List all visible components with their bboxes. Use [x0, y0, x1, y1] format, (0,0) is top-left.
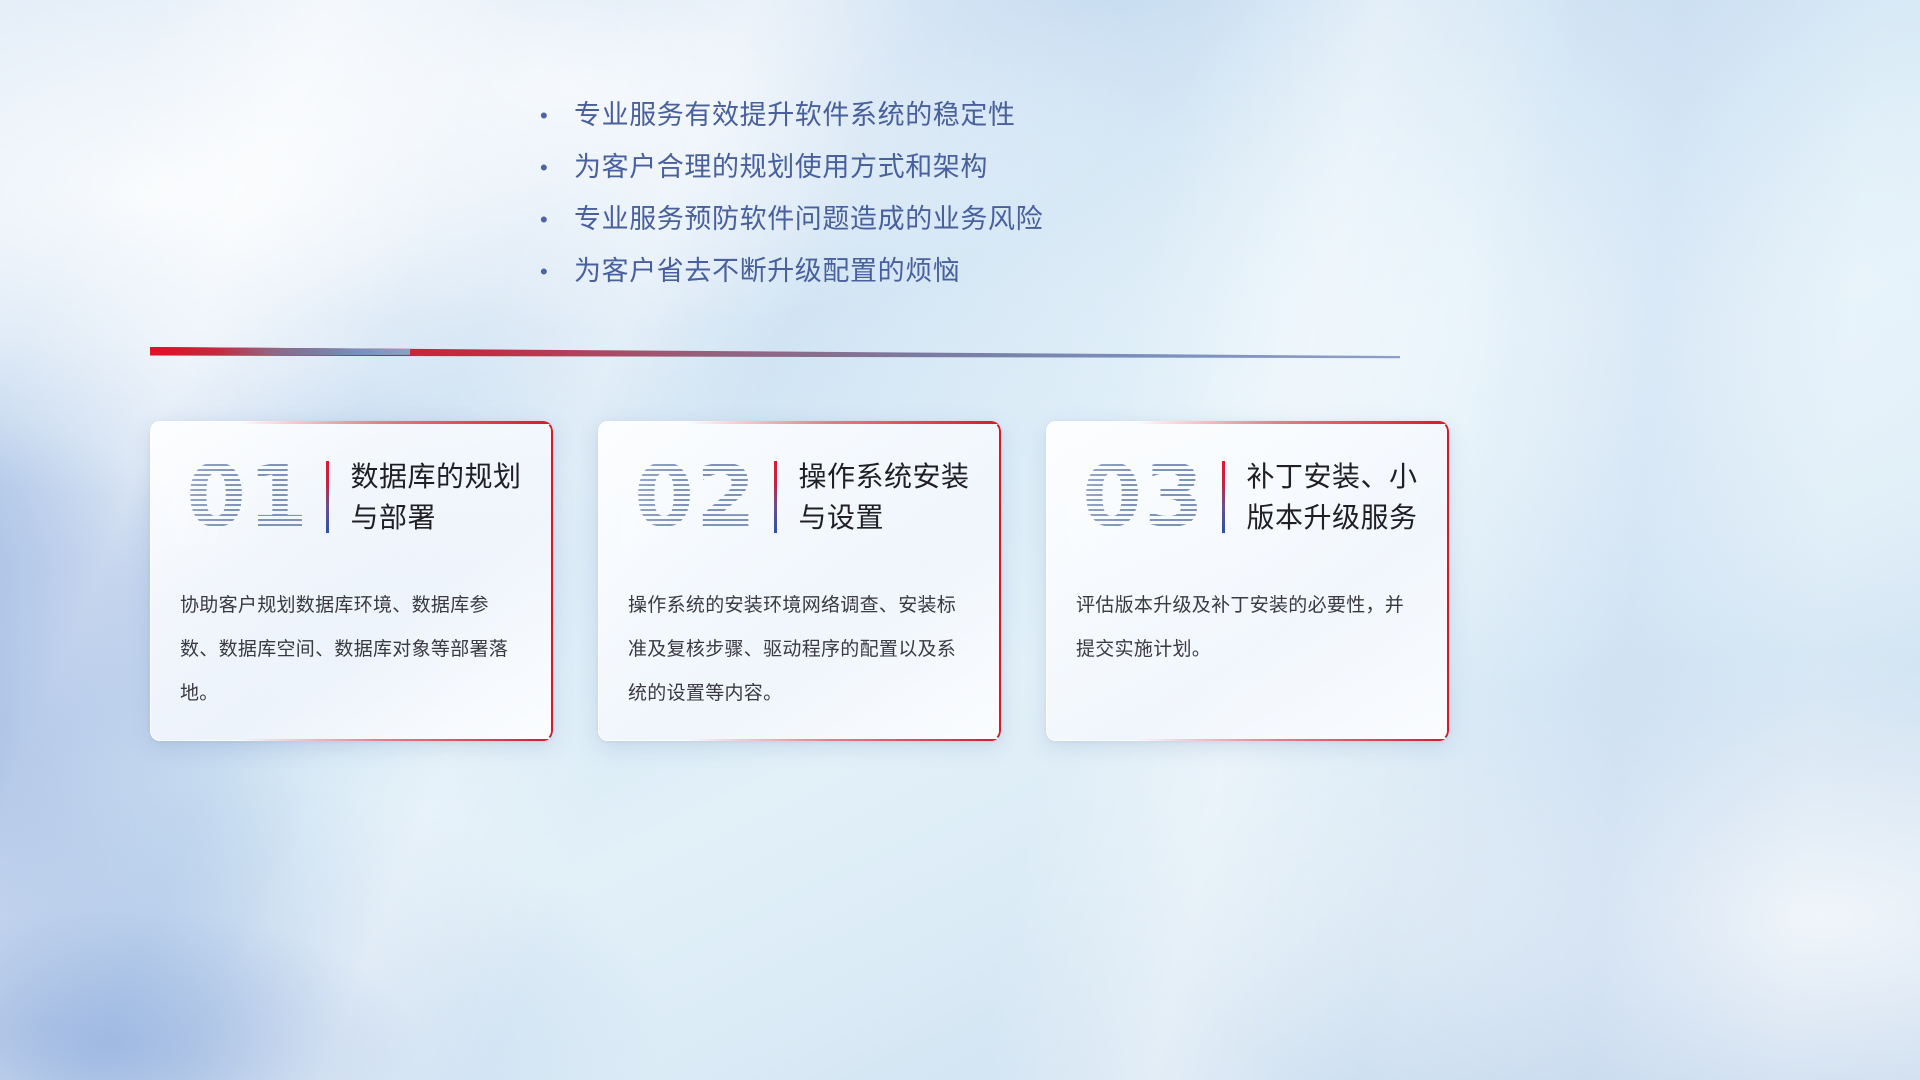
- bullet-text: 专业服务有效提升软件系统的稳定性: [574, 90, 1016, 142]
- card-accent-top: [687, 421, 1001, 424]
- bullet-text: 为客户合理的规划使用方式和架构: [574, 142, 988, 194]
- section-divider: [150, 345, 1400, 367]
- card-accent-bottom: [1135, 739, 1449, 742]
- service-card-group: 01 数据库的规划与部署 协助客户规划数据库环境、数据库参数、数据库空间、数据库…: [150, 421, 1450, 741]
- service-card-02[interactable]: 02 操作系统安装与设置 操作系统的安装环境网络调查、安装标准及复核步骤、驱动程…: [598, 421, 1001, 741]
- card-header: 01 数据库的规划与部署: [150, 443, 553, 551]
- list-item: • 为客户省去不断升级配置的烦恼: [540, 246, 1240, 298]
- card-number-watermark: 02: [620, 449, 772, 545]
- card-accent-bottom: [239, 739, 553, 742]
- service-card-01[interactable]: 01 数据库的规划与部署 协助客户规划数据库环境、数据库参数、数据库空间、数据库…: [150, 421, 553, 741]
- slide-canvas: • 专业服务有效提升软件系统的稳定性 • 为客户合理的规划使用方式和架构 • 专…: [0, 0, 1920, 1080]
- bullet-dot-icon: •: [540, 90, 574, 142]
- list-item: • 专业服务有效提升软件系统的稳定性: [540, 90, 1240, 142]
- list-item: • 为客户合理的规划使用方式和架构: [540, 142, 1240, 194]
- service-card-03[interactable]: 03 补丁安装、小版本升级服务 评估版本升级及补丁安装的必要性，并提交实施计划。: [1046, 421, 1449, 741]
- bullet-dot-icon: •: [540, 142, 574, 194]
- bullet-text: 为客户省去不断升级配置的烦恼: [574, 246, 960, 298]
- card-number-watermark: 01: [172, 449, 324, 545]
- card-header: 03 补丁安装、小版本升级服务: [1046, 443, 1449, 551]
- card-accent-top: [1135, 421, 1449, 424]
- card-title-rule: [774, 461, 777, 533]
- list-item: • 专业服务预防软件问题造成的业务风险: [540, 194, 1240, 246]
- bullet-dot-icon: •: [540, 246, 574, 298]
- card-description: 评估版本升级及补丁安装的必要性，并提交实施计划。: [1076, 583, 1423, 671]
- card-accent-bottom: [687, 739, 1001, 742]
- card-title: 操作系统安装与设置: [799, 456, 989, 538]
- card-description: 协助客户规划数据库环境、数据库参数、数据库空间、数据库对象等部署落地。: [180, 583, 527, 715]
- bullet-text: 专业服务预防软件问题造成的业务风险: [574, 194, 1043, 246]
- card-accent-top: [239, 421, 553, 424]
- card-title-rule: [326, 461, 329, 533]
- card-title: 补丁安装、小版本升级服务: [1247, 456, 1437, 538]
- card-header: 02 操作系统安装与设置: [598, 443, 1001, 551]
- card-title: 数据库的规划与部署: [351, 456, 541, 538]
- card-title-rule: [1222, 461, 1225, 533]
- card-description: 操作系统的安装环境网络调查、安装标准及复核步骤、驱动程序的配置以及系统的设置等内…: [628, 583, 975, 715]
- bullet-dot-icon: •: [540, 194, 574, 246]
- divider-shape-icon: [150, 345, 1400, 367]
- benefits-bullet-list: • 专业服务有效提升软件系统的稳定性 • 为客户合理的规划使用方式和架构 • 专…: [540, 90, 1240, 298]
- card-number-watermark: 03: [1068, 449, 1220, 545]
